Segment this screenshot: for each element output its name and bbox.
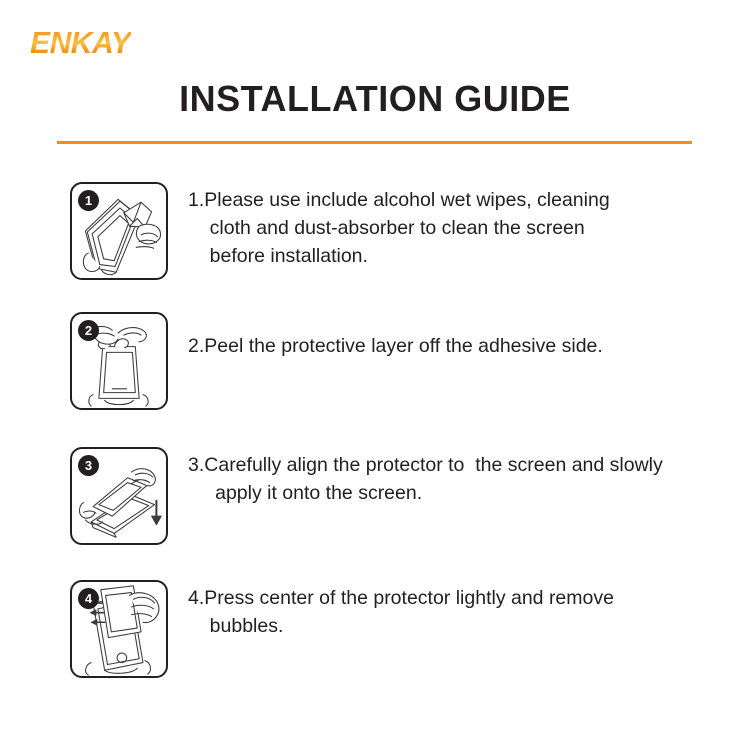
step-text-4: 4.Press center of the protector lightly … [188, 584, 700, 640]
peel-protective-layer-illustration: 2 [70, 312, 168, 410]
step-text-3: 3.Carefully align the protector to the s… [188, 451, 716, 507]
step-badge-1: 1 [78, 190, 99, 211]
step-text-2: 2.Peel the protective layer off the adhe… [188, 332, 700, 360]
step-badge-4: 4 [78, 588, 99, 609]
wipe-screen-with-cloth-illustration: 1 [70, 182, 168, 280]
brand-logo-text: ENKAY [30, 26, 131, 60]
step-badge-2: 2 [78, 320, 99, 341]
step-badge-3: 3 [78, 455, 99, 476]
title-divider [57, 141, 692, 144]
brand-logo: ENKAY [30, 26, 160, 60]
align-protector-to-screen-illustration: 3 [70, 447, 168, 545]
press-center-remove-bubbles-illustration: 4 [70, 580, 168, 678]
step-text-1: 1.Please use include alcohol wet wipes, … [188, 186, 700, 270]
page-title: INSTALLATION GUIDE [0, 78, 750, 120]
